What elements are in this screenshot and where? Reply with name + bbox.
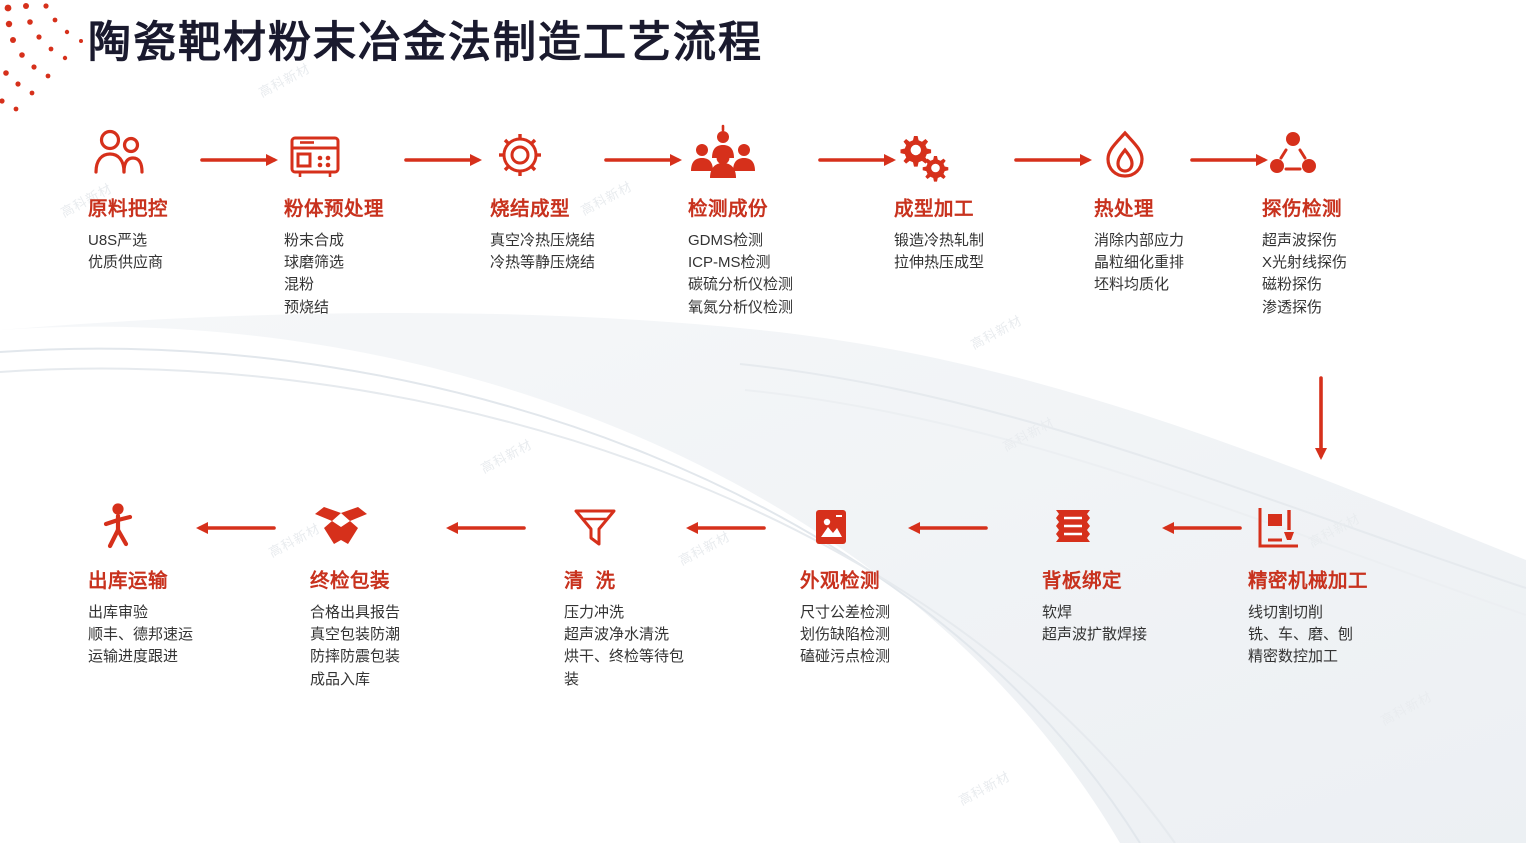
arrow-right bbox=[604, 152, 694, 166]
mixer-machine-icon bbox=[284, 128, 384, 184]
step-label: 背板绑定 bbox=[1042, 564, 1147, 593]
process-step-烧结成型[interactable]: 烧结成型 真空冷热压烧结 冷热等静压烧结 bbox=[490, 128, 595, 274]
step-label: 外观检测 bbox=[800, 564, 890, 593]
step-label: 出库运输 bbox=[88, 564, 193, 593]
cnc-machine-icon bbox=[1248, 500, 1368, 556]
inspection-team-icon bbox=[688, 128, 793, 184]
process-step-检测成份[interactable]: 检测成份 GDMS检测 ICP-MS检测 碳硫分析仪检测 氧氮分析仪检测 bbox=[688, 128, 793, 319]
detail-line: U8S严选 bbox=[88, 230, 168, 252]
step-detail-list: 合格出具报告 真空包装防潮 防摔防震包装 成品入库 bbox=[310, 602, 400, 691]
step-label: 清洗 bbox=[564, 564, 694, 593]
step-detail-list: 压力冲洗 超声波净水清洗 烘干、终检等待包装 bbox=[564, 602, 694, 691]
detail-line: 软焊 bbox=[1042, 602, 1147, 624]
detail-line: ICP-MS检测 bbox=[688, 252, 793, 274]
arrow-right bbox=[200, 152, 290, 166]
step-detail-list: 消除内部应力 晶粒细化重排 坯料均质化 bbox=[1094, 230, 1184, 297]
page-title: 陶瓷靶材粉末冶金法制造工艺流程 bbox=[88, 8, 763, 70]
detail-line: 合格出具报告 bbox=[310, 602, 400, 624]
detail-line: 碳硫分析仪检测 bbox=[688, 274, 793, 296]
detail-line: 防摔防震包装 bbox=[310, 646, 400, 668]
watermark: 高科新材 bbox=[955, 766, 1013, 809]
detail-line: 渗透探伤 bbox=[1262, 297, 1347, 319]
step-label: 成型加工 bbox=[894, 192, 984, 221]
step-detail-list: 出库审验 顺丰、德邦速运 运输进度跟进 bbox=[88, 602, 193, 669]
flame-icon bbox=[1094, 128, 1184, 184]
watermark: 高科新材 bbox=[967, 310, 1025, 353]
arrow-down bbox=[1312, 376, 1326, 472]
watermark: 高科新材 bbox=[999, 412, 1057, 455]
walking-person-icon bbox=[88, 500, 193, 556]
detail-line: 消除内部应力 bbox=[1094, 230, 1184, 252]
detail-line: 粉末合成 bbox=[284, 230, 384, 252]
detail-line: GDMS检测 bbox=[688, 230, 793, 252]
appearance-inspect-icon bbox=[800, 500, 890, 556]
detail-line: 磁粉探伤 bbox=[1262, 274, 1347, 296]
detail-line: 真空包装防潮 bbox=[310, 624, 400, 646]
background-swoosh bbox=[0, 0, 1526, 843]
process-step-外观检测[interactable]: 外观检测 尺寸公差检测 划伤缺陷检测 磕碰污点检测 bbox=[800, 500, 890, 669]
detail-line: 真空冷热压烧结 bbox=[490, 230, 595, 252]
step-label: 探伤检测 bbox=[1262, 192, 1347, 221]
detail-line: X光射线探伤 bbox=[1262, 252, 1347, 274]
process-step-粉体预处理[interactable]: 粉体预处理 粉末合成 球磨筛选 混粉 预烧结 bbox=[284, 128, 384, 319]
process-step-原料把控[interactable]: 原料把控 U8S严选 优质供应商 bbox=[88, 128, 168, 274]
arrow-right bbox=[404, 152, 494, 166]
step-detail-list: U8S严选 优质供应商 bbox=[88, 230, 168, 274]
people-icon bbox=[88, 128, 168, 184]
detail-line: 冷热等静压烧结 bbox=[490, 252, 595, 274]
arrow-left bbox=[186, 520, 276, 534]
step-detail-list: 超声波探伤 X光射线探伤 磁粉探伤 渗透探伤 bbox=[1262, 230, 1347, 319]
detail-line: 压力冲洗 bbox=[564, 602, 694, 624]
detail-line: 磕碰污点检测 bbox=[800, 646, 890, 668]
process-step-清洗[interactable]: 清洗 压力冲洗 超声波净水清洗 烘干、终检等待包装 bbox=[564, 500, 694, 691]
arrow-left bbox=[1152, 520, 1242, 534]
gear-sinter-icon bbox=[490, 128, 595, 184]
step-label: 热处理 bbox=[1094, 192, 1184, 221]
funnel-icon bbox=[564, 500, 694, 556]
step-label: 原料把控 bbox=[88, 192, 168, 221]
arrow-left bbox=[436, 520, 526, 534]
detail-line: 烘干、终检等待包装 bbox=[564, 646, 694, 690]
detail-line: 拉伸热压成型 bbox=[894, 252, 984, 274]
detail-line: 尺寸公差检测 bbox=[800, 602, 890, 624]
detail-line: 晶粒细化重排 bbox=[1094, 252, 1184, 274]
detail-line: 优质供应商 bbox=[88, 252, 168, 274]
open-box-icon bbox=[310, 500, 400, 556]
detail-line: 超声波净水清洗 bbox=[564, 624, 694, 646]
backing-plate-icon bbox=[1042, 500, 1147, 556]
step-label: 精密机械加工 bbox=[1248, 564, 1368, 593]
process-step-探伤检测[interactable]: 探伤检测 超声波探伤 X光射线探伤 磁粉探伤 渗透探伤 bbox=[1262, 128, 1347, 319]
detail-line: 氧氮分析仪检测 bbox=[688, 297, 793, 319]
detail-line: 锻造冷热轧制 bbox=[894, 230, 984, 252]
detail-line: 坯料均质化 bbox=[1094, 274, 1184, 296]
step-detail-list: 线切割切削 铣、车、磨、刨 精密数控加工 bbox=[1248, 602, 1368, 669]
step-detail-list: 粉末合成 球磨筛选 混粉 预烧结 bbox=[284, 230, 384, 319]
watermark: 高科新材 bbox=[1377, 686, 1435, 729]
detail-line: 运输进度跟进 bbox=[88, 646, 193, 668]
arrow-right bbox=[1014, 152, 1104, 166]
process-step-成型加工[interactable]: 成型加工 锻造冷热轧制 拉伸热压成型 bbox=[894, 128, 984, 274]
arrow-left bbox=[898, 520, 988, 534]
detail-line: 出库审验 bbox=[88, 602, 193, 624]
detail-line: 预烧结 bbox=[284, 297, 384, 319]
process-step-背板绑定[interactable]: 背板绑定 软焊 超声波扩散焊接 bbox=[1042, 500, 1147, 646]
step-label: 检测成份 bbox=[688, 192, 793, 221]
step-label: 粉体预处理 bbox=[284, 192, 384, 221]
watermark: 高科新材 bbox=[477, 434, 535, 477]
step-detail-list: 锻造冷热轧制 拉伸热压成型 bbox=[894, 230, 984, 274]
step-detail-list: GDMS检测 ICP-MS检测 碳硫分析仪检测 氧氮分析仪检测 bbox=[688, 230, 793, 319]
process-step-终检包装[interactable]: 终检包装 合格出具报告 真空包装防潮 防摔防震包装 成品入库 bbox=[310, 500, 400, 691]
detail-line: 成品入库 bbox=[310, 669, 400, 691]
detail-line: 划伤缺陷检测 bbox=[800, 624, 890, 646]
detail-line: 铣、车、磨、刨 bbox=[1248, 624, 1368, 646]
step-label: 终检包装 bbox=[310, 564, 400, 593]
step-detail-list: 尺寸公差检测 划伤缺陷检测 磕碰污点检测 bbox=[800, 602, 890, 669]
detail-line: 球磨筛选 bbox=[284, 252, 384, 274]
process-step-出库运输[interactable]: 出库运输 出库审验 顺丰、德邦速运 运输进度跟进 bbox=[88, 500, 193, 669]
flaw-detection-icon bbox=[1262, 128, 1347, 184]
process-step-热处理[interactable]: 热处理 消除内部应力 晶粒细化重排 坯料均质化 bbox=[1094, 128, 1184, 297]
detail-line: 精密数控加工 bbox=[1248, 646, 1368, 668]
detail-line: 顺丰、德邦速运 bbox=[88, 624, 193, 646]
process-step-精密机械加工[interactable]: 精密机械加工 线切割切削 铣、车、磨、刨 精密数控加工 bbox=[1248, 500, 1368, 669]
detail-line: 超声波探伤 bbox=[1262, 230, 1347, 252]
detail-line: 混粉 bbox=[284, 274, 384, 296]
step-label: 烧结成型 bbox=[490, 192, 595, 221]
detail-line: 超声波扩散焊接 bbox=[1042, 624, 1147, 646]
detail-line: 线切割切削 bbox=[1248, 602, 1368, 624]
gears-icon bbox=[894, 128, 984, 184]
step-detail-list: 软焊 超声波扩散焊接 bbox=[1042, 602, 1147, 646]
step-detail-list: 真空冷热压烧结 冷热等静压烧结 bbox=[490, 230, 595, 274]
